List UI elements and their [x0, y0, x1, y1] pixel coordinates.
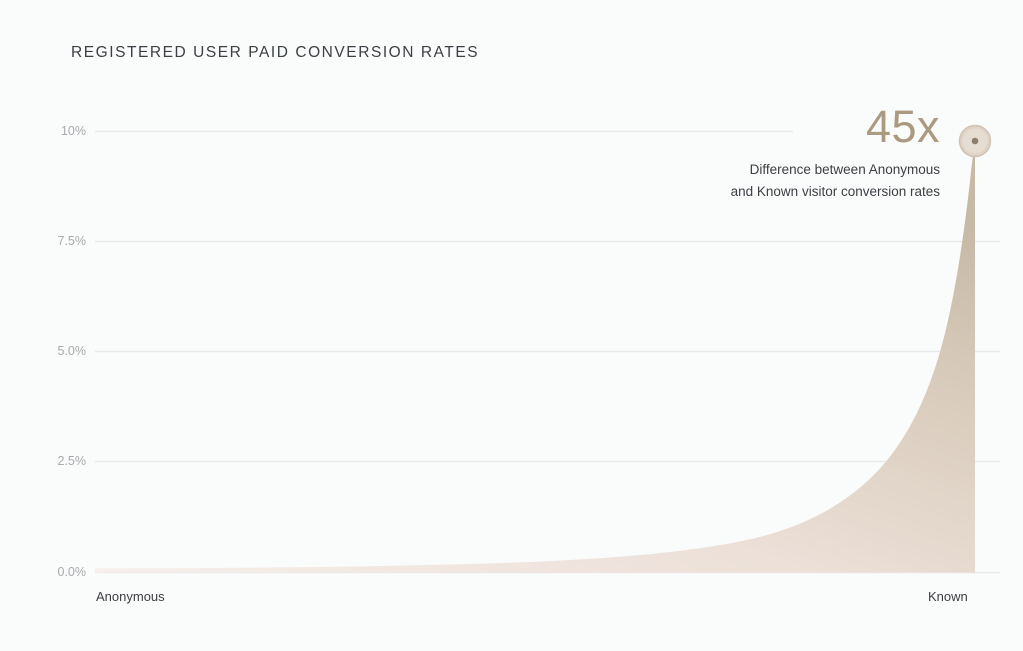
- callout-value: 45x: [660, 104, 940, 150]
- callout-annotation: 45x Difference between Anonymous and Kno…: [660, 104, 940, 203]
- y-tick-label-2-5: 2.5%: [58, 454, 87, 468]
- x-tick-label-anonymous: Anonymous: [96, 589, 165, 604]
- area-series-paid-conversion: [95, 141, 975, 573]
- y-tick-label-10: 10%: [61, 124, 86, 138]
- chart-page: REGISTERED USER PAID CONVERSION RATES: [0, 0, 1023, 651]
- x-tick-label-known: Known: [928, 589, 968, 604]
- callout-description-line-2: and Known visitor conversion rates: [660, 181, 940, 203]
- y-tick-label-0-0: 0.0%: [58, 565, 87, 579]
- conversion-area-chart: [0, 0, 1023, 651]
- known-endpoint-marker: [960, 126, 991, 157]
- y-tick-label-5-0: 5.0%: [58, 344, 87, 358]
- y-tick-label-7-5: 7.5%: [58, 234, 87, 248]
- callout-description: Difference between Anonymous and Known v…: [660, 159, 940, 203]
- callout-description-line-1: Difference between Anonymous: [660, 159, 940, 181]
